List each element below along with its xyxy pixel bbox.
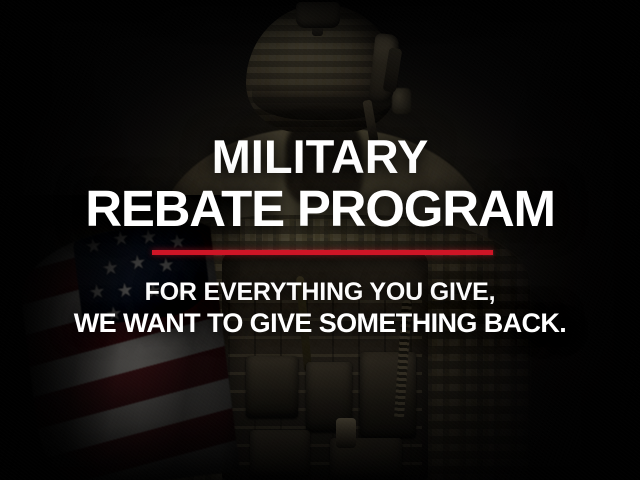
tagline-line-2: WE WANT TO GIVE SOMETHING BACK. bbox=[0, 308, 640, 339]
page-title: MILITARY REBATE PROGRAM bbox=[0, 131, 640, 235]
headline-line-1: MILITARY bbox=[0, 131, 640, 183]
military-rebate-program-banner: MILITARY REBATE PROGRAM FOR EVERYTHING Y… bbox=[0, 0, 640, 480]
headline-line-2: REBATE PROGRAM bbox=[0, 183, 640, 235]
tagline-line-1: FOR EVERYTHING YOU GIVE, bbox=[0, 277, 640, 308]
tagline: FOR EVERYTHING YOU GIVE, WE WANT TO GIVE… bbox=[0, 277, 640, 339]
text-overlay: MILITARY REBATE PROGRAM FOR EVERYTHING Y… bbox=[0, 0, 640, 480]
red-accent-rule bbox=[152, 250, 493, 255]
